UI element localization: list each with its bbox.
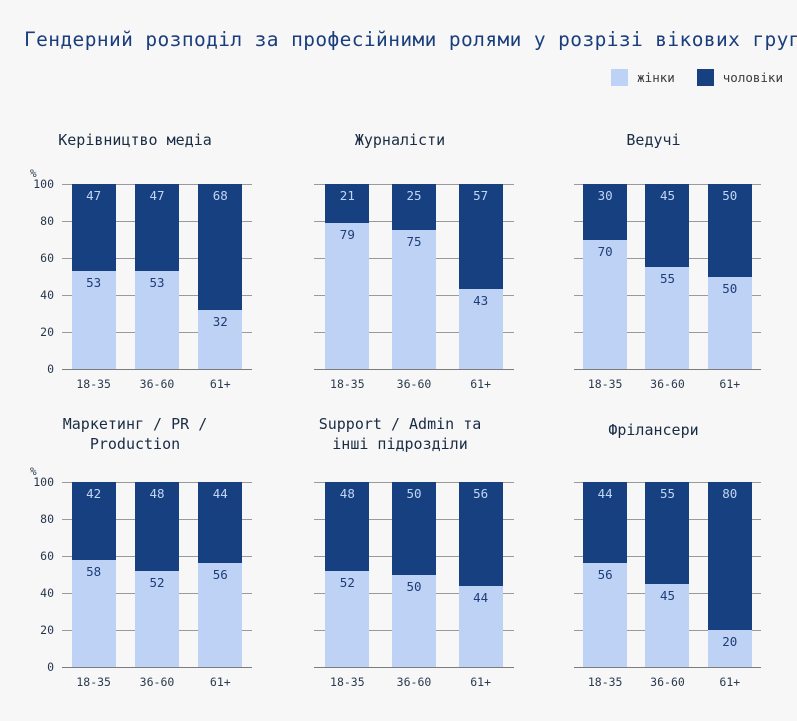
bar-group: 475347536832 — [62, 184, 252, 369]
bar-segment-men[interactable]: 44 — [198, 482, 242, 563]
legend-label-men: чоловіки — [723, 70, 783, 85]
bar-segment-men[interactable]: 80 — [708, 482, 752, 630]
bar-segment-women[interactable]: 79 — [325, 223, 369, 369]
bar-segment-women[interactable]: 75 — [392, 230, 436, 369]
bar-segment-men[interactable]: 50 — [708, 184, 752, 277]
bar-segment-women[interactable]: 43 — [459, 289, 503, 369]
stacked-bar-36-60[interactable]: 4555 — [645, 184, 689, 369]
y-axis-tick-label: 20 — [40, 325, 54, 339]
bar-value-label: 45 — [645, 189, 689, 203]
bar-segment-women[interactable]: 56 — [198, 563, 242, 667]
x-axis-tick-label: 61+ — [198, 377, 242, 391]
bar-group: 445655458020 — [574, 482, 761, 667]
bar-value-label: 56 — [459, 487, 503, 501]
x-axis-tick-label: 18-35 — [72, 675, 116, 689]
bar-segment-men[interactable]: 50 — [392, 482, 436, 575]
bar-segment-women[interactable]: 20 — [708, 630, 752, 667]
bar-value-label: 55 — [645, 272, 689, 286]
y-axis-tick-label: 60 — [40, 251, 54, 265]
x-axis-labels: 18-3536-6061+ — [314, 377, 514, 391]
panel-title-line: Production — [10, 434, 260, 454]
stacked-bar-61+[interactable]: 5743 — [459, 184, 503, 369]
bar-segment-women[interactable]: 55 — [645, 267, 689, 369]
bar-segment-men[interactable]: 47 — [135, 184, 179, 271]
bar-value-label: 32 — [198, 315, 242, 329]
plot-area: 48525050564418-3536-6061+ — [314, 482, 514, 667]
stacked-bar-36-60[interactable]: 4753 — [135, 184, 179, 369]
stacked-bar-18-35[interactable]: 2179 — [325, 184, 369, 369]
panel-title-line: Ведучі — [540, 130, 767, 150]
bar-value-label: 25 — [392, 189, 436, 203]
bar-value-label: 56 — [583, 568, 627, 582]
bar-value-label: 58 — [72, 565, 116, 579]
bar-segment-women[interactable]: 44 — [459, 586, 503, 667]
stacked-bar-18-35[interactable]: 4456 — [583, 482, 627, 667]
bar-group: 425848524456 — [62, 482, 252, 667]
stacked-bar-61+[interactable]: 5644 — [459, 482, 503, 667]
bar-value-label: 21 — [325, 189, 369, 203]
stacked-bar-61+[interactable]: 8020 — [708, 482, 752, 667]
plot-area: 30704555505018-3536-6061+ — [574, 184, 761, 369]
x-axis-tick-label: 36-60 — [135, 377, 179, 391]
stacked-bar-36-60[interactable]: 5050 — [392, 482, 436, 667]
panel-title: Маркетинг / PR /Production — [0, 414, 270, 454]
x-axis-labels: 18-3536-6061+ — [574, 675, 761, 689]
panel-title-line: Фрілансери — [540, 420, 767, 440]
bar-segment-women[interactable]: 50 — [708, 277, 752, 370]
stacked-bar-61+[interactable]: 4456 — [198, 482, 242, 667]
bar-value-label: 52 — [135, 576, 179, 590]
y-axis-tick-label: 0 — [47, 362, 54, 376]
chart-page: Гендерний розподіл за професійними ролям… — [0, 0, 797, 721]
bar-segment-men[interactable]: 21 — [325, 184, 369, 223]
bar-value-label: 68 — [198, 189, 242, 203]
x-axis-tick-label: 18-35 — [72, 377, 116, 391]
x-axis-tick-label: 61+ — [708, 675, 752, 689]
x-axis-tick-label: 36-60 — [392, 377, 436, 391]
gridline — [314, 667, 514, 668]
panel-title: Support / Admin таінші підрозділи — [270, 414, 530, 454]
x-axis-tick-label: 61+ — [459, 675, 503, 689]
bar-value-label: 75 — [392, 235, 436, 249]
bar-segment-women[interactable]: 32 — [198, 310, 242, 369]
x-axis-tick-label: 18-35 — [325, 377, 369, 391]
x-axis-tick-label: 61+ — [459, 377, 503, 391]
bar-value-label: 79 — [325, 228, 369, 242]
bar-segment-women[interactable]: 50 — [392, 575, 436, 668]
stacked-bar-61+[interactable]: 5050 — [708, 184, 752, 369]
x-axis-labels: 18-3536-6061+ — [62, 377, 252, 391]
bar-value-label: 48 — [325, 487, 369, 501]
bar-segment-men[interactable]: 56 — [459, 482, 503, 586]
bar-group: 307045555050 — [574, 184, 761, 369]
chart-panel-3: Ведучі30704555505018-3536-6061+ — [530, 112, 777, 402]
bar-value-label: 50 — [708, 282, 752, 296]
bar-value-label: 53 — [135, 276, 179, 290]
y-axis-tick-label: 40 — [40, 288, 54, 302]
x-axis-tick-label: 18-35 — [583, 675, 627, 689]
bar-segment-men[interactable]: 68 — [198, 184, 242, 310]
gridline — [574, 369, 761, 370]
bar-value-label: 57 — [459, 189, 503, 203]
bar-value-label: 55 — [645, 487, 689, 501]
gridline — [314, 369, 514, 370]
bar-group: 485250505644 — [314, 482, 514, 667]
x-axis-tick-label: 36-60 — [135, 675, 179, 689]
stacked-bar-18-35[interactable]: 4258 — [72, 482, 116, 667]
y-axis-tick-label: 100 — [33, 177, 54, 191]
chart-panel-1: Керівництво медіа%1008060402004753475368… — [0, 112, 270, 402]
y-axis-tick-label: 80 — [40, 512, 54, 526]
y-axis-tick-label: 40 — [40, 586, 54, 600]
stacked-bar-36-60[interactable]: 4852 — [135, 482, 179, 667]
bar-segment-women[interactable]: 58 — [72, 560, 116, 667]
stacked-bar-18-35[interactable]: 4852 — [325, 482, 369, 667]
y-axis-tick-label: 60 — [40, 549, 54, 563]
panel-title-line: Маркетинг / PR / — [10, 414, 260, 434]
bar-segment-women[interactable]: 45 — [645, 584, 689, 667]
panel-grid: Керівництво медіа%1008060402004753475368… — [0, 112, 797, 697]
bar-segment-men[interactable]: 42 — [72, 482, 116, 560]
bar-value-label: 48 — [135, 487, 179, 501]
stacked-bar-36-60[interactable]: 5545 — [645, 482, 689, 667]
bar-value-label: 42 — [72, 487, 116, 501]
chart-panel-6: Фрілансери44565545802018-3536-6061+ — [530, 402, 777, 697]
bar-group: 217925755743 — [314, 184, 514, 369]
legend-label-women: жінки — [637, 70, 675, 85]
panel-title-line: інші підрозділи — [280, 434, 520, 454]
bar-value-label: 47 — [135, 189, 179, 203]
bar-value-label: 70 — [583, 245, 627, 259]
bar-segment-women[interactable]: 53 — [135, 271, 179, 369]
x-axis-tick-label: 18-35 — [583, 377, 627, 391]
bar-segment-women[interactable]: 53 — [72, 271, 116, 369]
panel-title-line: Support / Admin та — [280, 414, 520, 434]
legend-item-men[interactable]: чоловіки — [697, 69, 783, 86]
y-axis-tick-label: 20 — [40, 623, 54, 637]
legend-swatch-men — [697, 69, 714, 86]
x-axis-tick-label: 36-60 — [392, 675, 436, 689]
gridline: 0 — [62, 667, 252, 668]
chart-panel-4: Маркетинг / PR /Production%1008060402004… — [0, 402, 270, 697]
bar-value-label: 52 — [325, 576, 369, 590]
bar-value-label: 44 — [459, 591, 503, 605]
bar-value-label: 30 — [583, 189, 627, 203]
bar-value-label: 50 — [392, 580, 436, 594]
bar-value-label: 80 — [708, 487, 752, 501]
y-axis-tick-label: 100 — [33, 475, 54, 489]
gridline: 0 — [62, 369, 252, 370]
chart-panel-5: Support / Admin таінші підрозділи4852505… — [270, 402, 530, 697]
panel-title-line: Керівництво медіа — [10, 130, 260, 150]
x-axis-tick-label: 18-35 — [325, 675, 369, 689]
chart-panel-2: Журналісти21792575574318-3536-6061+ — [270, 112, 530, 402]
stacked-bar-36-60[interactable]: 2575 — [392, 184, 436, 369]
legend-item-women[interactable]: жінки — [611, 69, 675, 86]
bar-segment-women[interactable]: 56 — [583, 563, 627, 667]
panel-title: Ведучі — [530, 130, 777, 150]
bar-segment-women[interactable]: 70 — [583, 240, 627, 370]
plot-area: 10080604020047534753683218-3536-6061+ — [62, 184, 252, 369]
plot-area: 10080604020042584852445618-3536-6061+ — [62, 482, 252, 667]
bar-value-label: 20 — [708, 635, 752, 649]
page-title: Гендерний розподіл за професійними ролям… — [24, 28, 797, 51]
bar-segment-men[interactable]: 55 — [645, 482, 689, 584]
x-axis-labels: 18-3536-6061+ — [314, 675, 514, 689]
legend: жінкичоловіки — [611, 69, 783, 86]
bar-value-label: 50 — [708, 189, 752, 203]
x-axis-tick-label: 61+ — [708, 377, 752, 391]
bar-value-label: 53 — [72, 276, 116, 290]
x-axis-labels: 18-3536-6061+ — [62, 675, 252, 689]
bar-value-label: 47 — [72, 189, 116, 203]
x-axis-labels: 18-3536-6061+ — [574, 377, 761, 391]
bar-segment-men[interactable]: 45 — [645, 184, 689, 267]
bar-segment-men[interactable]: 48 — [135, 482, 179, 571]
stacked-bar-18-35[interactable]: 3070 — [583, 184, 627, 369]
legend-swatch-women — [611, 69, 628, 86]
x-axis-tick-label: 36-60 — [645, 377, 689, 391]
bar-value-label: 44 — [198, 487, 242, 501]
bar-segment-men[interactable]: 57 — [459, 184, 503, 289]
plot-area: 44565545802018-3536-6061+ — [574, 482, 761, 667]
bar-segment-men[interactable]: 48 — [325, 482, 369, 571]
panel-title-line: Журналісти — [280, 130, 520, 150]
bar-segment-men[interactable]: 44 — [583, 482, 627, 563]
y-axis-tick-label: 80 — [40, 214, 54, 228]
panel-title: Керівництво медіа — [0, 130, 270, 150]
bar-value-label: 45 — [645, 589, 689, 603]
bar-value-label: 43 — [459, 294, 503, 308]
plot-area: 21792575574318-3536-6061+ — [314, 184, 514, 369]
bar-value-label: 56 — [198, 568, 242, 582]
bar-value-label: 50 — [392, 487, 436, 501]
panel-title: Фрілансери — [530, 420, 777, 440]
bar-segment-men[interactable]: 30 — [583, 184, 627, 240]
stacked-bar-18-35[interactable]: 4753 — [72, 184, 116, 369]
stacked-bar-61+[interactable]: 6832 — [198, 184, 242, 369]
bar-segment-men[interactable]: 47 — [72, 184, 116, 271]
panel-title: Журналісти — [270, 130, 530, 150]
bar-segment-women[interactable]: 52 — [135, 571, 179, 667]
x-axis-tick-label: 61+ — [198, 675, 242, 689]
bar-value-label: 44 — [583, 487, 627, 501]
gridline — [574, 667, 761, 668]
bar-segment-men[interactable]: 25 — [392, 184, 436, 230]
y-axis-tick-label: 0 — [47, 660, 54, 674]
bar-segment-women[interactable]: 52 — [325, 571, 369, 667]
x-axis-tick-label: 36-60 — [645, 675, 689, 689]
